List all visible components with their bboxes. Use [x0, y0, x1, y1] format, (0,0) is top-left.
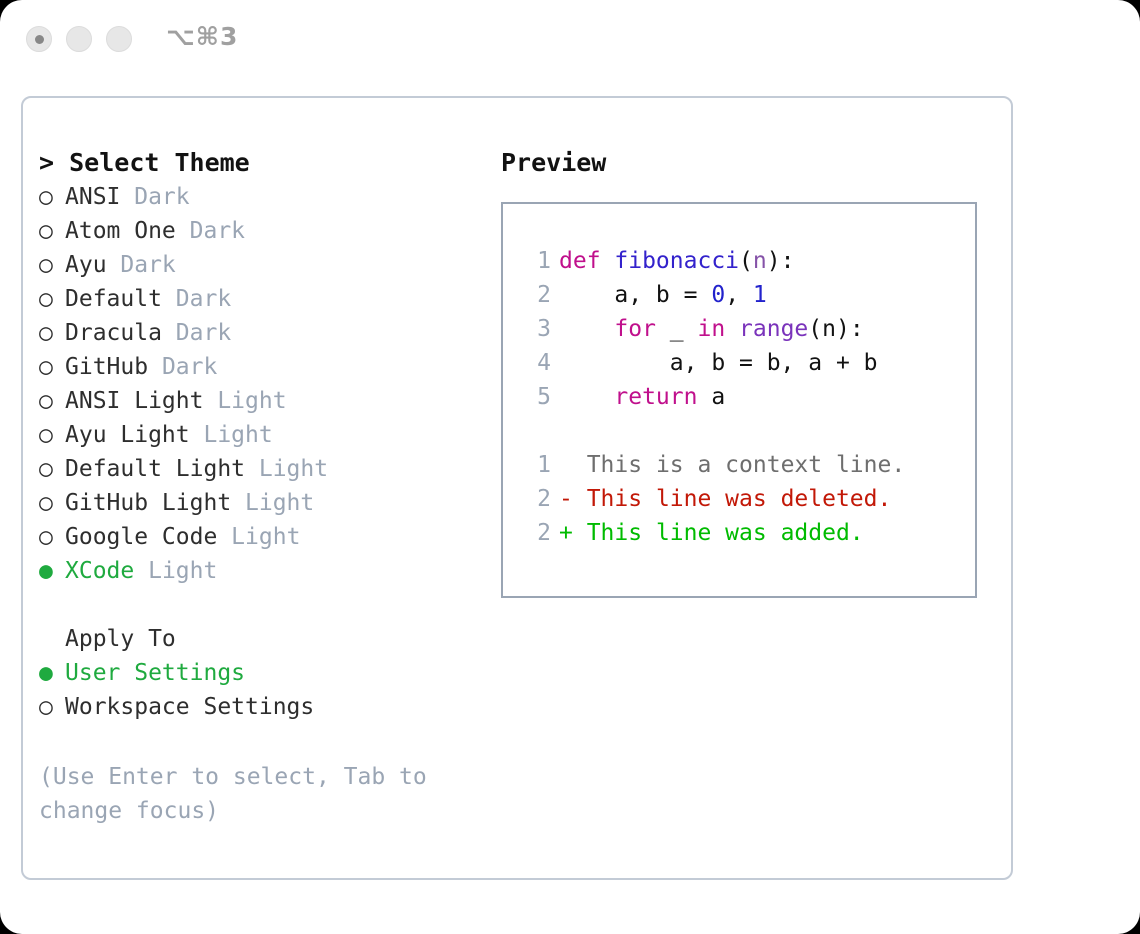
theme-variant-badge: Dark: [107, 252, 176, 278]
code-token: n: [753, 248, 767, 274]
code-token: (n):: [808, 316, 863, 342]
line-number: 4: [517, 346, 551, 380]
radio-unselected-icon: ○: [39, 180, 65, 214]
theme-list-item[interactable]: ○ Default Dark: [39, 282, 479, 316]
theme-name: Ayu: [65, 252, 107, 278]
apply-to-option-label: User Settings: [65, 660, 245, 686]
theme-list: ○ ANSI Dark○ Atom One Dark○ Ayu Dark○ De…: [39, 180, 479, 588]
apply-to-option[interactable]: ○ Workspace Settings: [39, 690, 479, 724]
main-panel: > Select Theme ○ ANSI Dark○ Atom One Dar…: [21, 96, 1013, 880]
help-hint-text: (Use Enter to select, Tab to change focu…: [39, 760, 449, 828]
preview-panel-title: Preview: [501, 146, 991, 180]
diff-text: This line was deleted.: [587, 486, 892, 512]
radio-unselected-icon: ○: [39, 486, 65, 520]
radio-selected-icon: ●: [39, 656, 65, 690]
radio-unselected-icon: ○: [39, 350, 65, 384]
apply-to-option-label: Workspace Settings: [65, 694, 314, 720]
code-token: a: [697, 384, 725, 410]
theme-list-item[interactable]: ○ ANSI Dark: [39, 180, 479, 214]
code-token: range: [739, 316, 808, 342]
theme-list-item[interactable]: ○ Ayu Dark: [39, 248, 479, 282]
theme-variant-badge: Light: [190, 422, 273, 448]
code-token: fibonacci: [614, 248, 739, 274]
radio-unselected-icon: ○: [39, 282, 65, 316]
code-token: a, b = b, a + b: [559, 350, 878, 376]
theme-name: ANSI: [65, 184, 120, 210]
theme-name: Google Code: [65, 524, 217, 550]
theme-list-item[interactable]: ● XCode Light: [39, 554, 479, 588]
theme-name: Ayu Light: [65, 422, 190, 448]
preview-code-box: 1def fibonacci(n):2 a, b = 0, 13 for _ i…: [501, 202, 977, 598]
line-number: 2: [517, 482, 551, 516]
theme-variant-badge: Light: [231, 490, 314, 516]
theme-name: Default: [65, 286, 162, 312]
theme-variant-badge: Dark: [162, 286, 231, 312]
theme-selector-panel: > Select Theme ○ ANSI Dark○ Atom One Dar…: [39, 146, 479, 828]
radio-unselected-icon: ○: [39, 452, 65, 486]
theme-variant-badge: Light: [217, 524, 300, 550]
keyboard-shortcut-label: ⌥⌘3: [166, 22, 238, 51]
code-sample: 1def fibonacci(n):2 a, b = 0, 13 for _ i…: [517, 244, 975, 414]
theme-variant-badge: Light: [134, 558, 217, 584]
code-line: 2 a, b = 0, 1: [517, 278, 975, 312]
theme-name: GitHub Light: [65, 490, 231, 516]
apply-to-section: Apply To ● User Settings○ Workspace Sett…: [39, 622, 479, 724]
theme-name: XCode: [65, 558, 134, 584]
code-token: _: [656, 316, 698, 342]
code-token: (: [739, 248, 753, 274]
theme-name: Dracula: [65, 320, 162, 346]
code-token: [725, 316, 739, 342]
diff-line: 1 This is a context line.: [517, 448, 975, 482]
radio-unselected-icon: ○: [39, 214, 65, 248]
theme-name: GitHub: [65, 354, 148, 380]
code-token: for: [614, 316, 656, 342]
code-line: 4 a, b = b, a + b: [517, 346, 975, 380]
theme-list-item[interactable]: ○ Dracula Dark: [39, 316, 479, 350]
line-number: 2: [517, 516, 551, 550]
traffic-light-maximize-icon[interactable]: [106, 26, 132, 52]
line-number: 1: [517, 448, 551, 482]
theme-variant-badge: Light: [203, 388, 286, 414]
theme-name: ANSI Light: [65, 388, 203, 414]
traffic-light-minimize-icon[interactable]: [66, 26, 92, 52]
code-token: 0: [711, 282, 725, 308]
radio-selected-icon: ●: [39, 554, 65, 588]
theme-panel-title-text: Select Theme: [69, 148, 250, 177]
code-token: [559, 384, 614, 410]
theme-variant-badge: Dark: [176, 218, 245, 244]
title-bar: ⌥⌘3: [0, 0, 1140, 78]
app-window: ⌥⌘3 > Select Theme ○ ANSI Dark○ Atom One…: [0, 0, 1140, 934]
line-number: 5: [517, 380, 551, 414]
diff-line: 2+ This line was added.: [517, 516, 975, 550]
radio-unselected-icon: ○: [39, 520, 65, 554]
diff-sign: +: [559, 520, 587, 546]
code-token: return: [614, 384, 697, 410]
diff-line: 2- This line was deleted.: [517, 482, 975, 516]
line-number: 3: [517, 312, 551, 346]
radio-unselected-icon: ○: [39, 316, 65, 350]
diff-text: This line was added.: [587, 520, 864, 546]
traffic-light-close-icon[interactable]: [26, 26, 52, 52]
theme-list-item[interactable]: ○ Atom One Dark: [39, 214, 479, 248]
radio-unselected-icon: ○: [39, 690, 65, 724]
theme-variant-badge: Dark: [120, 184, 189, 210]
apply-to-option[interactable]: ● User Settings: [39, 656, 479, 690]
theme-list-item[interactable]: ○ GitHub Dark: [39, 350, 479, 384]
diff-text: This is a context line.: [587, 452, 906, 478]
theme-list-item[interactable]: ○ Default Light Light: [39, 452, 479, 486]
theme-name: Atom One: [65, 218, 176, 244]
code-line: 3 for _ in range(n):: [517, 312, 975, 346]
theme-list-item[interactable]: ○ Ayu Light Light: [39, 418, 479, 452]
code-line: 5 return a: [517, 380, 975, 414]
code-line: 1def fibonacci(n):: [517, 244, 975, 278]
code-token: in: [697, 316, 725, 342]
line-number: 2: [517, 278, 551, 312]
code-diff-spacer: [517, 414, 975, 448]
apply-to-option-list: ● User Settings○ Workspace Settings: [39, 656, 479, 724]
code-token: 1: [753, 282, 767, 308]
line-number: 1: [517, 244, 551, 278]
code-token: a, b =: [559, 282, 711, 308]
theme-variant-badge: Dark: [162, 320, 231, 346]
apply-to-title: Apply To: [39, 622, 479, 656]
theme-variant-badge: Light: [245, 456, 328, 482]
preview-panel: Preview 1def fibonacci(n):2 a, b = 0, 13…: [501, 146, 991, 598]
code-token: def: [559, 248, 614, 274]
theme-variant-badge: Dark: [148, 354, 217, 380]
theme-list-item[interactable]: ○ GitHub Light Light: [39, 486, 479, 520]
radio-unselected-icon: ○: [39, 418, 65, 452]
theme-list-item[interactable]: ○ Google Code Light: [39, 520, 479, 554]
theme-list-item[interactable]: ○ ANSI Light Light: [39, 384, 479, 418]
theme-name: Default Light: [65, 456, 245, 482]
diff-sample: 1 This is a context line.2- This line wa…: [517, 448, 975, 550]
radio-unselected-icon: ○: [39, 248, 65, 282]
diff-sign: [559, 452, 587, 478]
code-token: ):: [767, 248, 795, 274]
diff-sign: -: [559, 486, 587, 512]
code-token: [559, 316, 614, 342]
prompt-caret: >: [39, 148, 69, 177]
radio-unselected-icon: ○: [39, 384, 65, 418]
theme-panel-title: > Select Theme: [39, 146, 479, 180]
code-token: ,: [725, 282, 753, 308]
